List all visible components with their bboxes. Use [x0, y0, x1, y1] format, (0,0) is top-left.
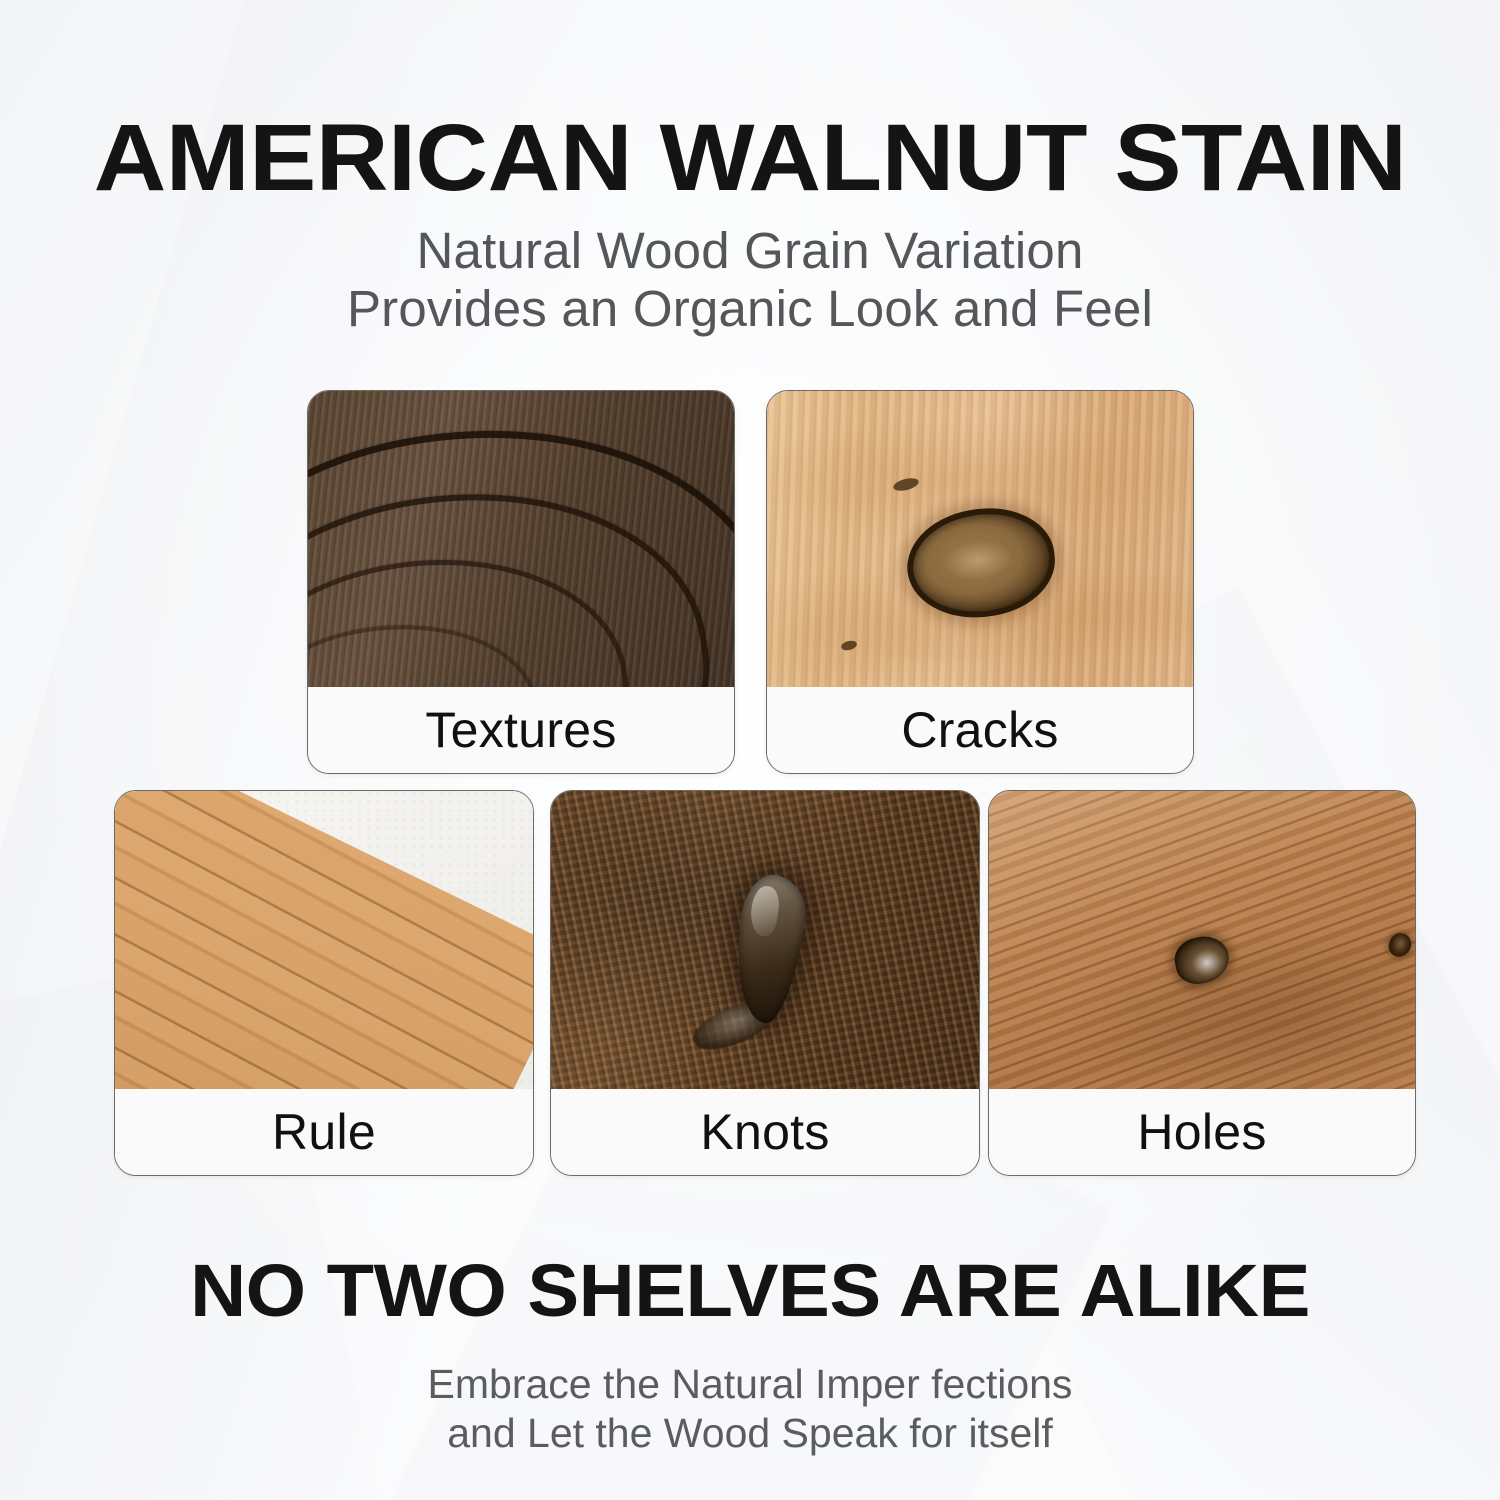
- feature-label-textures: Textures: [308, 687, 734, 773]
- infographic-page: AMERICAN WALNUT STAIN Natural Wood Grain…: [0, 0, 1500, 1500]
- feature-photo-knots: [551, 791, 979, 1091]
- page-subtitle: Natural Wood Grain Variation Provides an…: [0, 222, 1500, 338]
- feature-card-holes[interactable]: Holes: [988, 790, 1416, 1176]
- page-title: AMERICAN WALNUT STAIN: [0, 104, 1500, 213]
- feature-card-rule[interactable]: Rule: [114, 790, 534, 1176]
- feature-card-cracks[interactable]: Cracks: [766, 390, 1194, 774]
- footer-subtitle: Embrace the Natural Imper fections and L…: [0, 1360, 1500, 1458]
- feature-label-holes: Holes: [989, 1089, 1415, 1175]
- feature-card-textures[interactable]: Textures: [307, 390, 735, 774]
- feature-photo-holes: [989, 791, 1415, 1091]
- feature-photo-rule: [115, 791, 533, 1091]
- feature-photo-textures: [308, 391, 734, 689]
- page-subtitle-line-2: Provides an Organic Look and Feel: [0, 280, 1500, 338]
- footer-subtitle-line-2: and Let the Wood Speak for itself: [0, 1409, 1500, 1458]
- feature-card-knots[interactable]: Knots: [550, 790, 980, 1176]
- page-subtitle-line-1: Natural Wood Grain Variation: [0, 222, 1500, 280]
- feature-label-rule: Rule: [115, 1089, 533, 1175]
- feature-photo-cracks: [767, 391, 1193, 689]
- feature-label-knots: Knots: [551, 1089, 979, 1175]
- wood-texture-board-edge: [115, 791, 533, 1091]
- feature-label-cracks: Cracks: [767, 687, 1193, 773]
- footer-title: NO TWO SHELVES ARE ALIKE: [0, 1248, 1500, 1333]
- footer-subtitle-line-1: Embrace the Natural Imper fections: [0, 1360, 1500, 1409]
